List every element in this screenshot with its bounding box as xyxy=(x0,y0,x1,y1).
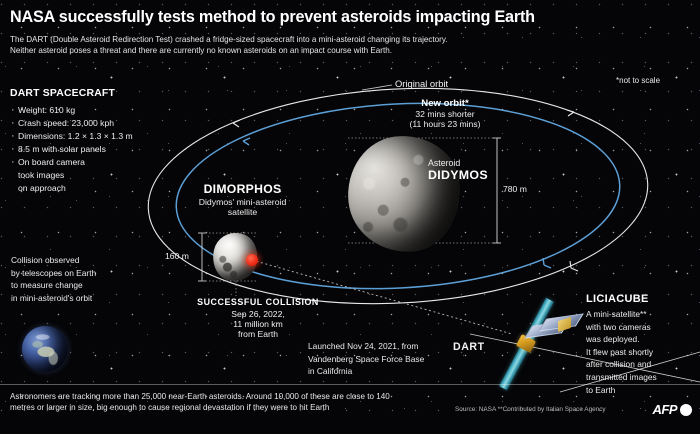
launch-note: Launched Nov 24, 2021, from Vandenberg S… xyxy=(308,340,458,378)
collision-observed-note: Collision observed by telescopes on Eart… xyxy=(11,254,181,304)
launch-line-3: in California xyxy=(308,365,458,378)
successful-collision-callout: SUCCESSFUL COLLISION Sep 26, 2022, 11 mi… xyxy=(178,297,338,339)
successful-collision-heading: SUCCESSFUL COLLISION xyxy=(178,297,338,307)
dart-spacecraft-panel: DART SPACECRAFT Weight: 610 kg Crash spe… xyxy=(10,88,195,195)
dart-spacecraft-heading-main: DART xyxy=(10,88,40,99)
dart-spec-dimensions: Dimensions: 1.2 × 1.3 × 1.3 m xyxy=(10,130,195,143)
source-credit: Source: NASA **Contributed by Italian Sp… xyxy=(455,406,606,413)
dimorphos-name: DIMORPHOS xyxy=(175,182,310,196)
original-orbit-label: Original orbit xyxy=(395,78,448,89)
footer-note: Astronomers are tracking more than 25,00… xyxy=(10,391,410,414)
successful-collision-distance: 11 million km xyxy=(178,319,338,329)
successful-collision-from: from Earth xyxy=(178,329,338,339)
launch-line-1: Launched Nov 24, 2021, from xyxy=(308,340,458,353)
liciacube-graphic xyxy=(528,312,578,346)
dart-spec-span: 8.5 m with solar panels xyxy=(10,143,195,156)
liciacube-line-1: A mini-satellite** xyxy=(586,308,698,321)
afp-wordmark: AFP xyxy=(653,402,678,417)
successful-collision-date: Sep 26, 2022, xyxy=(178,309,338,319)
liciacube-name: LICIACUBE xyxy=(586,293,698,305)
infographic-root: NASA successfully tests method to preven… xyxy=(0,0,700,434)
dimorphos-dimension-bracket xyxy=(198,233,206,281)
dimorphos-label-group: DIMORPHOS Didymos' mini-asteroid satelli… xyxy=(175,182,310,217)
liciacube-line-6: transmitted images xyxy=(586,371,698,384)
new-orbit-label-group: New orbit* 32 mins shorter (11 hours 23 … xyxy=(385,98,505,129)
dart-craft-label: DART xyxy=(453,341,485,353)
didymos-asteroid xyxy=(342,130,466,257)
dart-spec-weight: Weight: 610 kg xyxy=(10,104,195,117)
footer-divider xyxy=(0,384,700,385)
dimorphos-sub-line-1: Didymos' mini-asteroid xyxy=(175,197,310,207)
didymos-kicker: Asteroid xyxy=(428,158,488,168)
liciacube-line-2: with two cameras xyxy=(586,321,698,334)
liciacube-line-7: to Earth xyxy=(586,384,698,397)
not-to-scale-note: *not to scale xyxy=(616,76,660,85)
dimorphos-sub-line-2: satellite xyxy=(175,207,310,217)
didymos-size-label: 780 m xyxy=(503,184,527,194)
impact-point-marker xyxy=(246,254,258,266)
dart-spec-speed: Crash speed: 23,000 kph xyxy=(10,117,195,130)
liciacube-line-5: after collision and xyxy=(586,358,698,371)
liciacube-line-4: It flew past shortly xyxy=(586,346,698,359)
new-orbit-line-1: 32 mins shorter xyxy=(385,109,505,119)
launch-line-2: Vandenberg Space Force Base xyxy=(308,353,458,366)
new-orbit-label: New orbit* xyxy=(385,98,505,109)
dart-spec-camera: On board camera took images on approach xyxy=(10,156,195,195)
didymos-name: DIDYMOS xyxy=(428,168,488,182)
dart-spacecraft-heading-sub: SPACECRAFT xyxy=(43,88,115,99)
afp-dot-icon xyxy=(680,404,692,416)
didymos-dimension-bracket xyxy=(493,138,501,243)
dart-spec-list: Weight: 610 kg Crash speed: 23,000 kph D… xyxy=(10,104,195,195)
dart-spacecraft-heading: DART SPACECRAFT xyxy=(10,88,195,99)
afp-logo: AFP xyxy=(653,402,693,417)
didymos-label-group: Asteroid DIDYMOS xyxy=(428,158,488,182)
dimorphos-size-label: 160 m xyxy=(165,251,189,261)
new-orbit-line-2: (11 hours 23 mins) xyxy=(385,119,505,129)
earth-globe xyxy=(22,326,68,372)
liciacube-line-3: was deployed. xyxy=(586,333,698,346)
liciacube-panel: LICIACUBE A mini-satellite** with two ca… xyxy=(586,293,698,396)
